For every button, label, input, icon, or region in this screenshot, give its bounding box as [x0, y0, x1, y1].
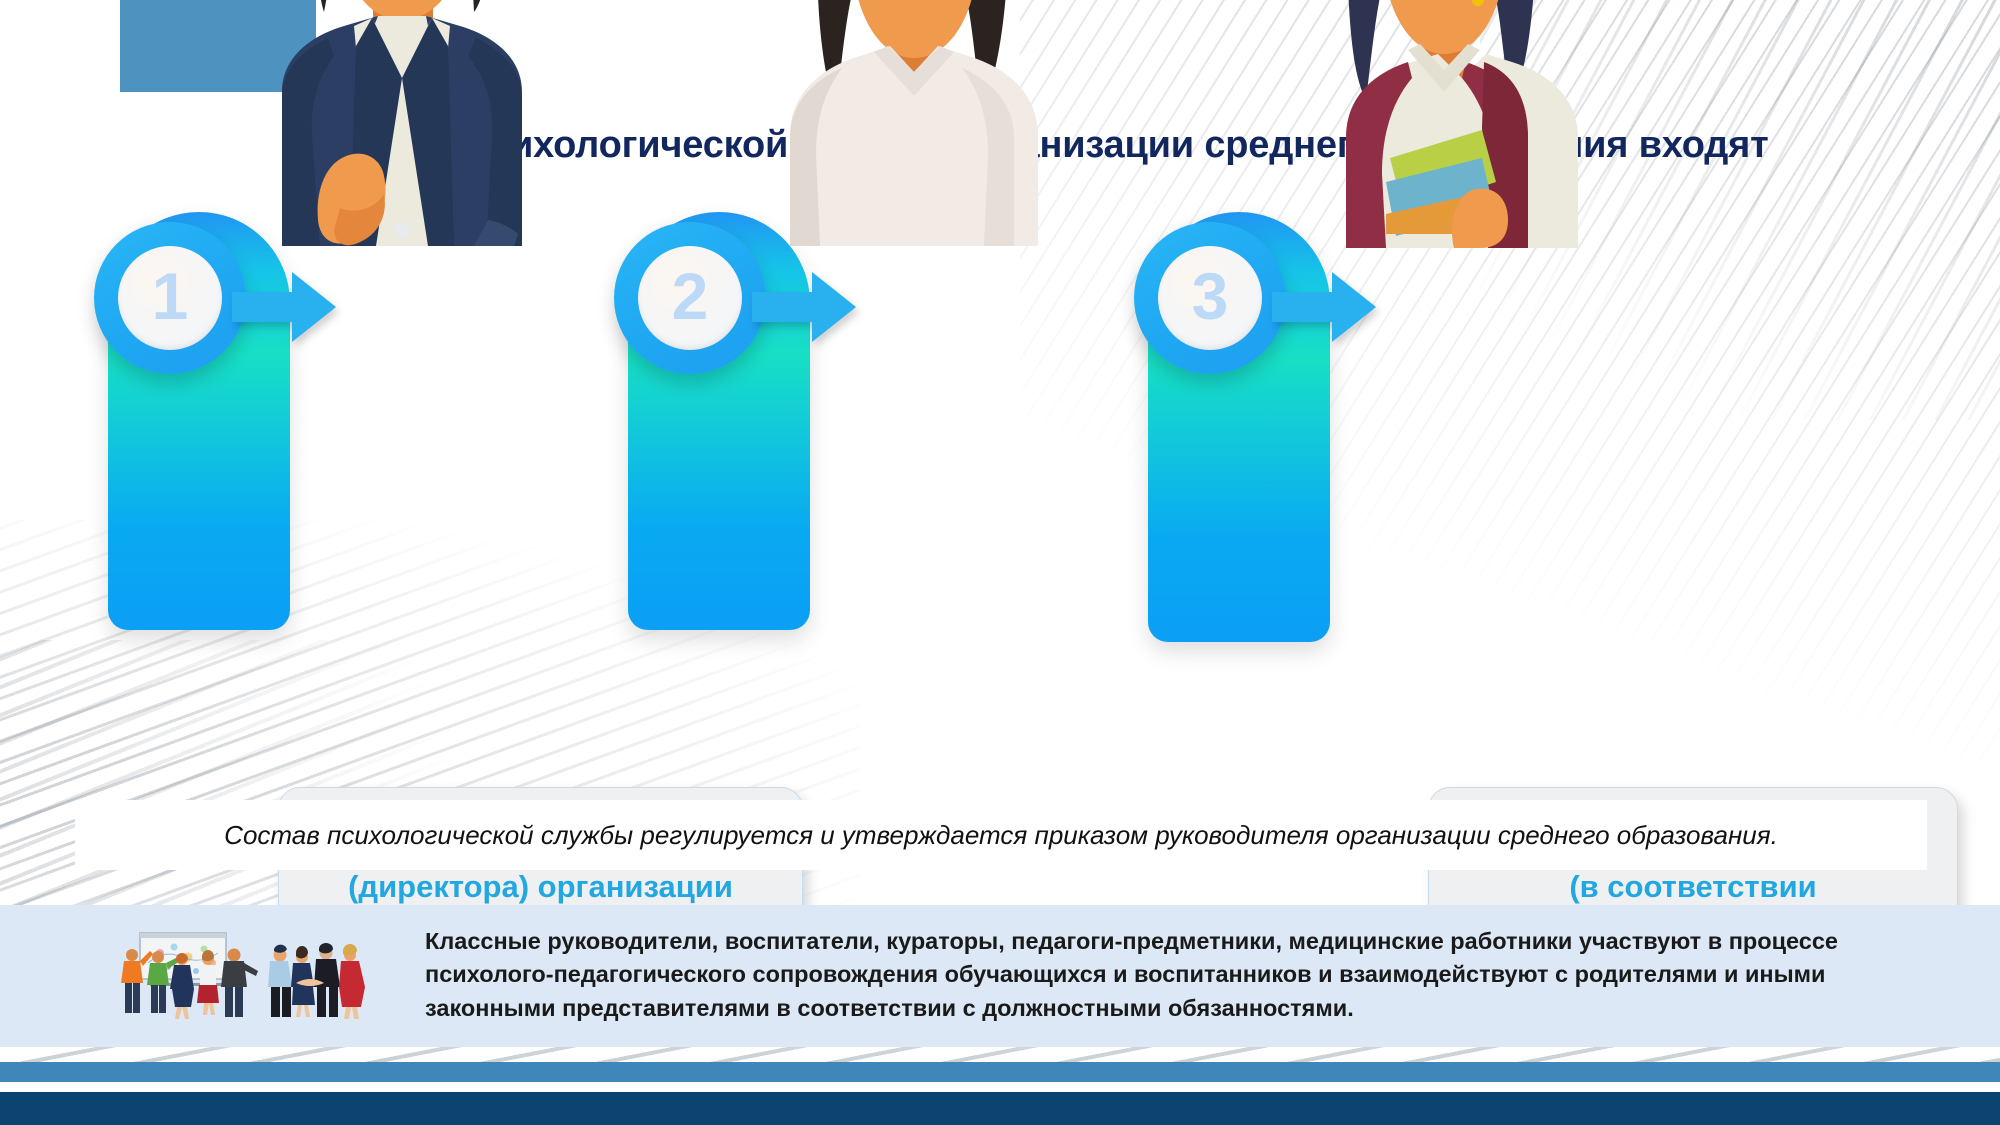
step-1-person-illustration: [236, 0, 566, 246]
step-1-number: 1: [152, 263, 189, 329]
step-3-badge: 3: [1134, 222, 1286, 374]
step-2-person-illustration: [760, 0, 1060, 246]
bottom-banner: Классные руководители, воспитатели, кура…: [0, 905, 2000, 1047]
arrow-right-icon: [232, 270, 336, 344]
team-meeting-illustration: [110, 927, 390, 1027]
note-box: Состав психологической службы регулирует…: [75, 800, 1927, 870]
steps-container: 1: [0, 0, 2000, 800]
step-3-number: 3: [1192, 263, 1229, 329]
step-3-person-illustration: [1296, 0, 1586, 248]
step-2-number: 2: [672, 263, 709, 329]
footer-bar-white: [0, 1082, 2000, 1092]
footer-bar-navy: [0, 1092, 2000, 1125]
note-text: Состав психологической службы регулирует…: [224, 820, 1778, 851]
step-2-badge: 2: [614, 222, 766, 374]
arrow-right-icon: [752, 270, 856, 344]
step-2-badge-inner: 2: [638, 246, 742, 350]
arrow-right-icon: [1272, 270, 1376, 344]
step-3-badge-inner: 3: [1158, 246, 1262, 350]
banner-text: Классные руководители, воспитатели, кура…: [425, 925, 1865, 1025]
step-1-badge-inner: 1: [118, 246, 222, 350]
footer-bar-blue: [0, 1062, 2000, 1082]
step-1-badge: 1: [94, 222, 246, 374]
